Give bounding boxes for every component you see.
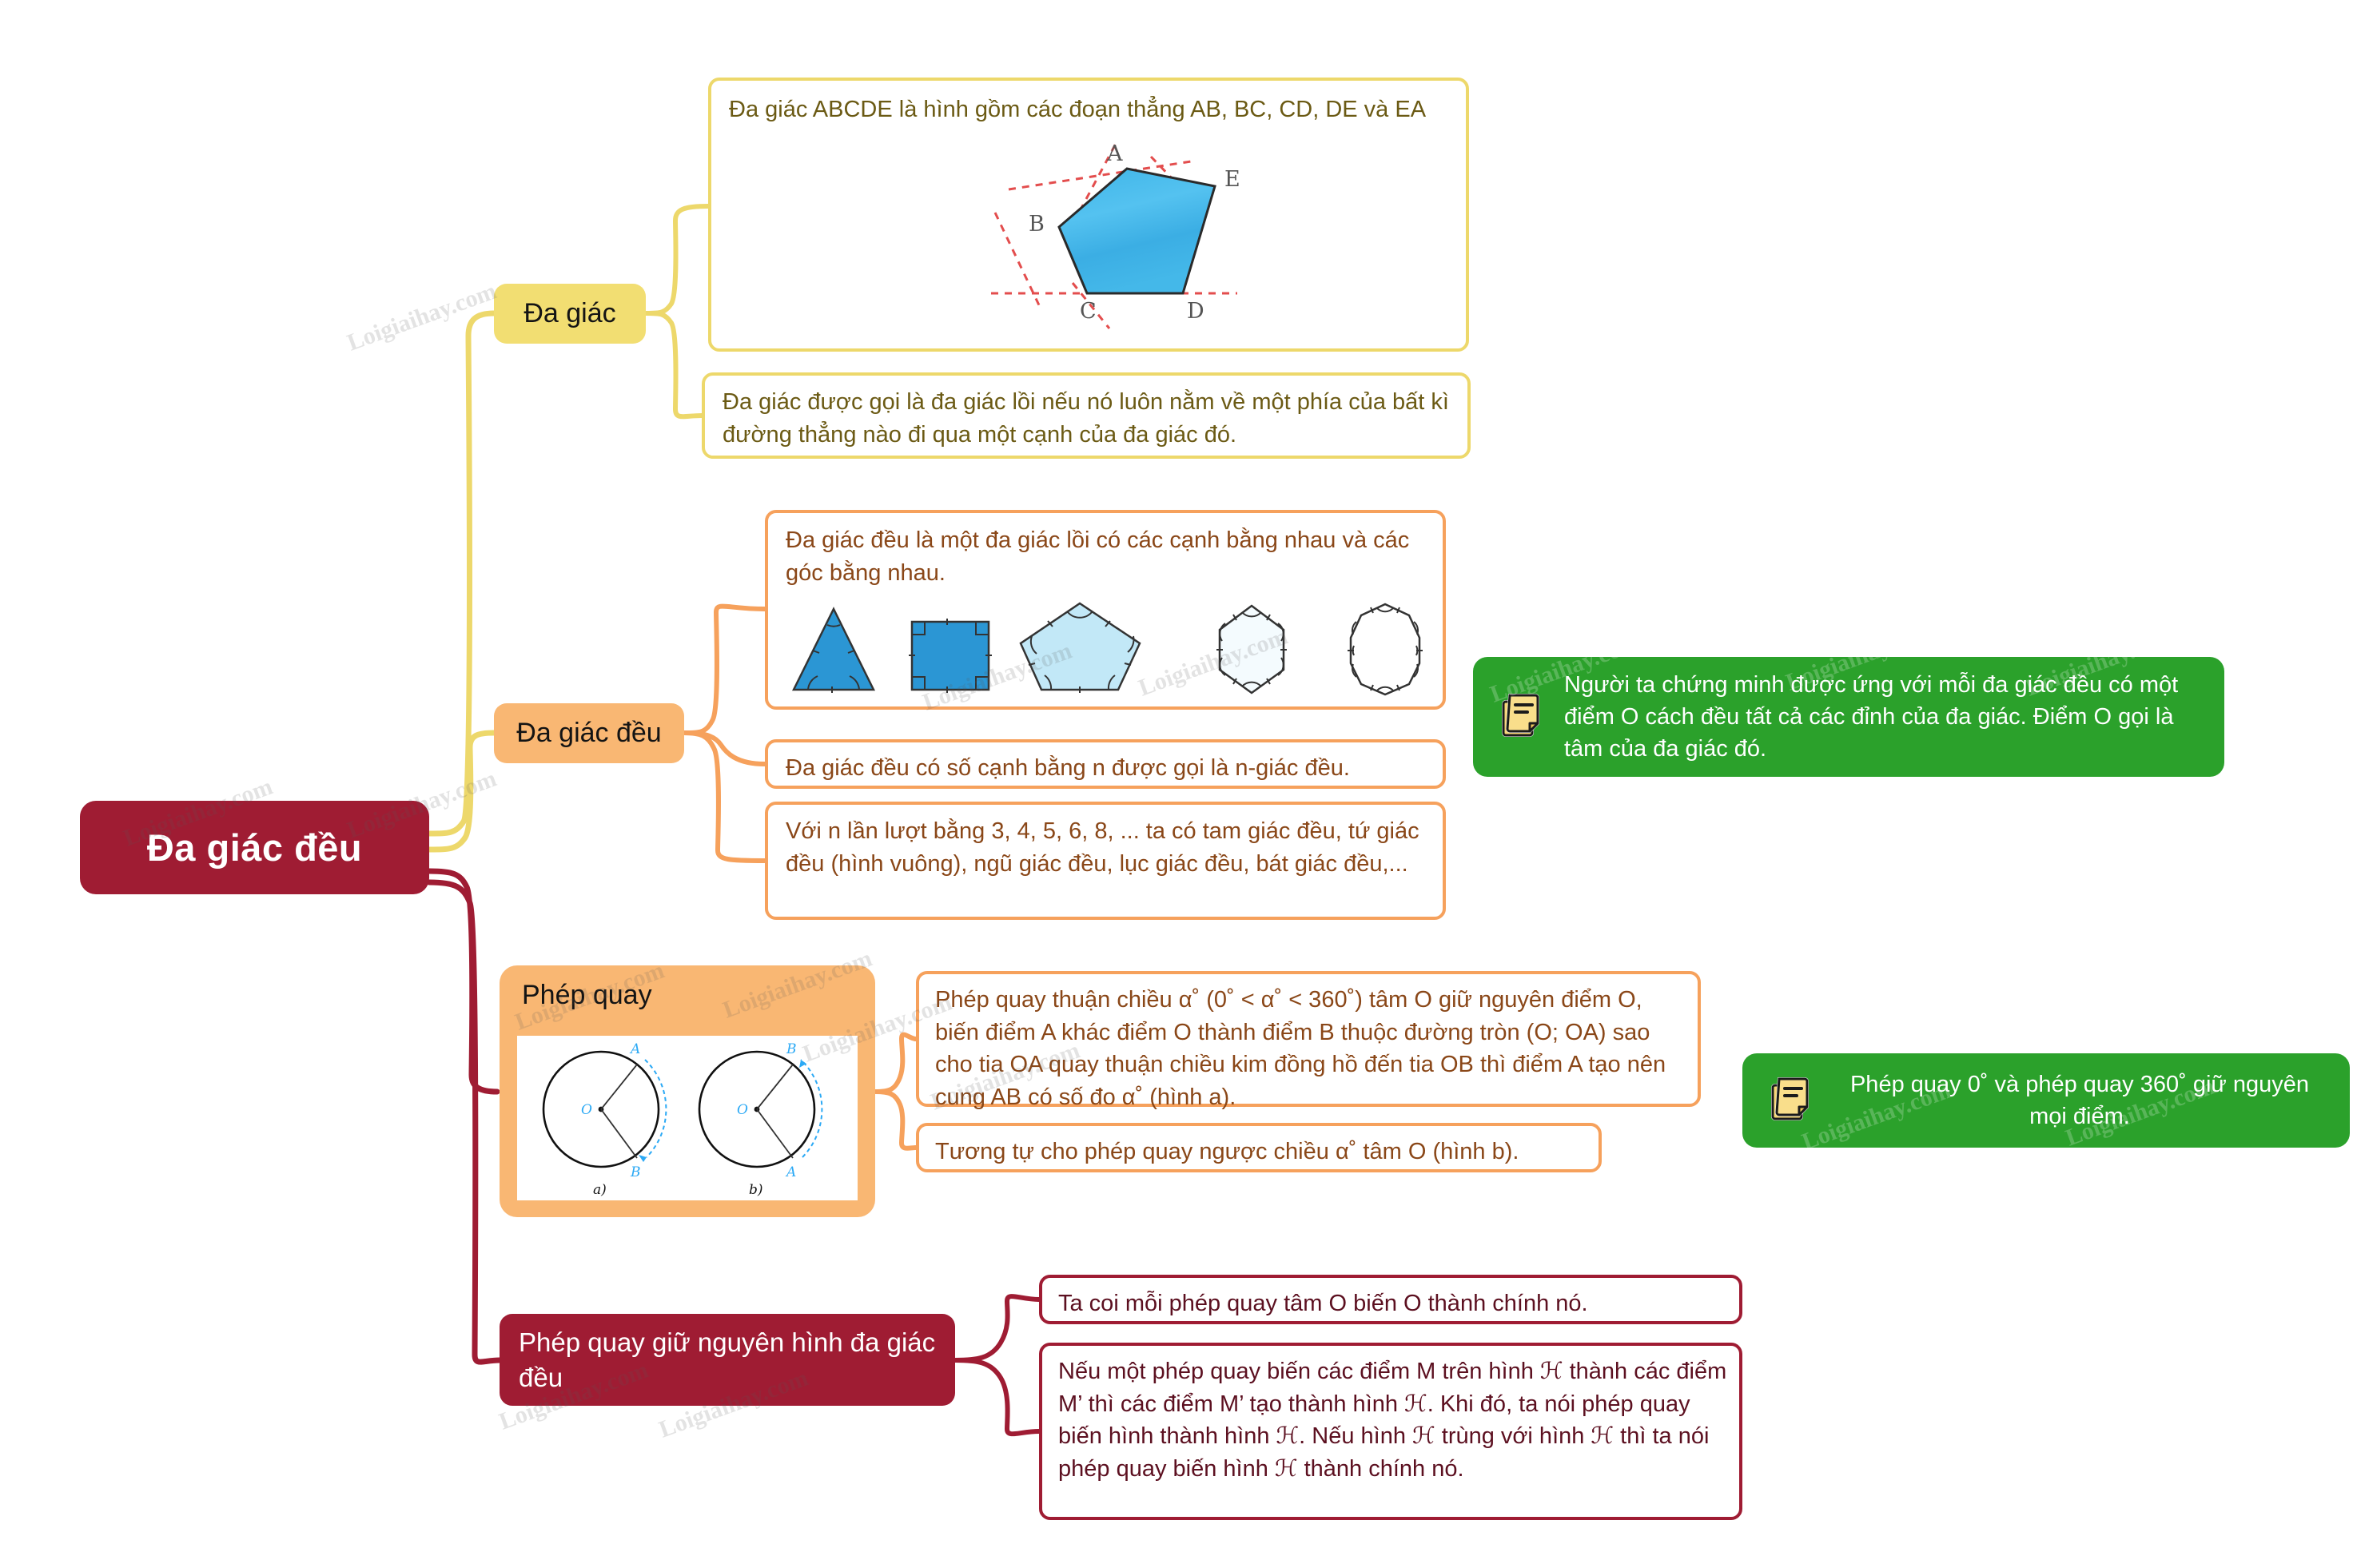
svg-text:B: B — [630, 1164, 641, 1180]
connector-dagiacdeu-card2 — [684, 733, 765, 764]
connector-root-dagiac — [429, 313, 494, 834]
root-node[interactable]: Đa giác đều — [80, 801, 429, 894]
card-giunguyen-hinhH: Nếu một phép quay biến các điểm M trên h… — [1039, 1343, 1742, 1520]
card-n-values: Với n lần lượt bằng 3, 4, 5, 6, 8, ... t… — [765, 802, 1446, 920]
connector-phepquay-card1 — [875, 1035, 916, 1092]
connector-root-giunguyen — [429, 882, 500, 1362]
svg-text:A: A — [785, 1164, 796, 1180]
note-rotation-identity: Phép quay 0˚ và phép quay 360˚ giữ nguyê… — [1742, 1053, 2350, 1148]
branch-giunguyen-label: Phép quay giữ nguyên hình đa giác đều — [519, 1325, 936, 1395]
branch-dagiac[interactable]: Đa giác — [494, 284, 646, 344]
note-center-of-polygon-text: Người ta chứng minh được ứng với mỗi đa … — [1564, 669, 2200, 765]
card-phepquay-nguocchieu: Tương tự cho phép quay ngược chiều α˚ tâ… — [916, 1123, 1602, 1172]
svg-text:A: A — [629, 1041, 640, 1057]
card-dagiacdeu-definition: Đa giác đều là một đa giác lồi có các cạ… — [765, 510, 1446, 710]
svg-text:O: O — [581, 1102, 592, 1118]
connector-giunguyen-card2 — [955, 1360, 1039, 1434]
svg-text:B: B — [786, 1041, 797, 1057]
card-giunguyen-tamO: Ta coi mỗi phép quay tâm O biến O thành … — [1039, 1275, 1742, 1324]
svg-text:O: O — [737, 1102, 748, 1118]
connector-dagiacdeu-card1 — [684, 607, 765, 733]
branch-dagiac-label: Đa giác — [524, 296, 615, 331]
branch-giunguyen[interactable]: Phép quay giữ nguyên hình đa giác đều — [500, 1314, 955, 1406]
card-n-values-text: Với n lần lượt bằng 3, 4, 5, 6, 8, ... t… — [786, 815, 1427, 880]
svg-text:D: D — [1187, 299, 1204, 324]
svg-text:b): b) — [749, 1182, 763, 1198]
svg-text:C: C — [1080, 299, 1097, 324]
card-phepquay-thuanchieu-text: Phép quay thuận chiều α˚ (0˚ < α˚ < 360˚… — [935, 984, 1690, 1113]
connector-root-phepquay — [429, 871, 497, 1092]
note-icon — [1766, 1074, 1816, 1128]
card-dagiac-definition: Đa giác ABCDE là hình gồm các đoạn thẳng… — [708, 78, 1469, 352]
connector-phepquay-card2 — [875, 1092, 916, 1148]
branch-dagiacdeu[interactable]: Đa giác đều — [494, 703, 684, 763]
connector-giunguyen-card1 — [955, 1296, 1039, 1360]
connector-dagiac-card1 — [646, 206, 708, 313]
root-label: Đa giác đều — [147, 826, 362, 870]
polygon-abcde-figure: A B C D E — [863, 137, 1327, 332]
note-icon — [1497, 690, 1547, 744]
svg-text:B: B — [1029, 212, 1045, 237]
card-phepquay-nguocchieu-text: Tương tự cho phép quay ngược chiều α˚ tâ… — [935, 1136, 1519, 1168]
rotation-circles-figure: A B O a) B A O b) — [517, 1036, 858, 1200]
card-dagiacdeu-definition-text: Đa giác đều là một đa giác lồi có các cạ… — [786, 524, 1425, 589]
card-dagiac-loi: Đa giác được gọi là đa giác lồi nếu nó l… — [702, 372, 1471, 459]
svg-text:a): a) — [593, 1182, 607, 1198]
branch-phepquay-label: Phép quay — [522, 978, 652, 1013]
svg-text:E: E — [1224, 167, 1240, 192]
note-center-of-polygon: Người ta chứng minh được ứng với mỗi đa … — [1473, 657, 2224, 777]
branch-dagiacdeu-label: Đa giác đều — [516, 716, 661, 750]
svg-text:A: A — [1106, 141, 1123, 166]
card-giunguyen-hinhH-text: Nếu một phép quay biến các điểm M trên h… — [1058, 1355, 1730, 1485]
card-dagiac-definition-text: Đa giác ABCDE là hình gồm các đoạn thẳng… — [729, 94, 1426, 126]
branch-phepquay[interactable]: Phép quay A B O a) B A O b) — [500, 965, 875, 1217]
card-ngiac-deu-text: Đa giác đều có số cạnh bằng n được gọi l… — [786, 752, 1350, 785]
note-rotation-identity-text: Phép quay 0˚ và phép quay 360˚ giữ nguyê… — [1833, 1069, 2326, 1132]
card-dagiac-loi-text: Đa giác được gọi là đa giác lồi nếu nó l… — [723, 386, 1451, 451]
card-phepquay-thuanchieu: Phép quay thuận chiều α˚ (0˚ < α˚ < 360˚… — [916, 971, 1701, 1107]
connector-dagiac-card2 — [646, 313, 702, 416]
regular-polygons-row — [784, 599, 1439, 699]
card-ngiac-deu: Đa giác đều có số cạnh bằng n được gọi l… — [765, 739, 1446, 789]
card-giunguyen-tamO-text: Ta coi mỗi phép quay tâm O biến O thành … — [1058, 1287, 1588, 1320]
